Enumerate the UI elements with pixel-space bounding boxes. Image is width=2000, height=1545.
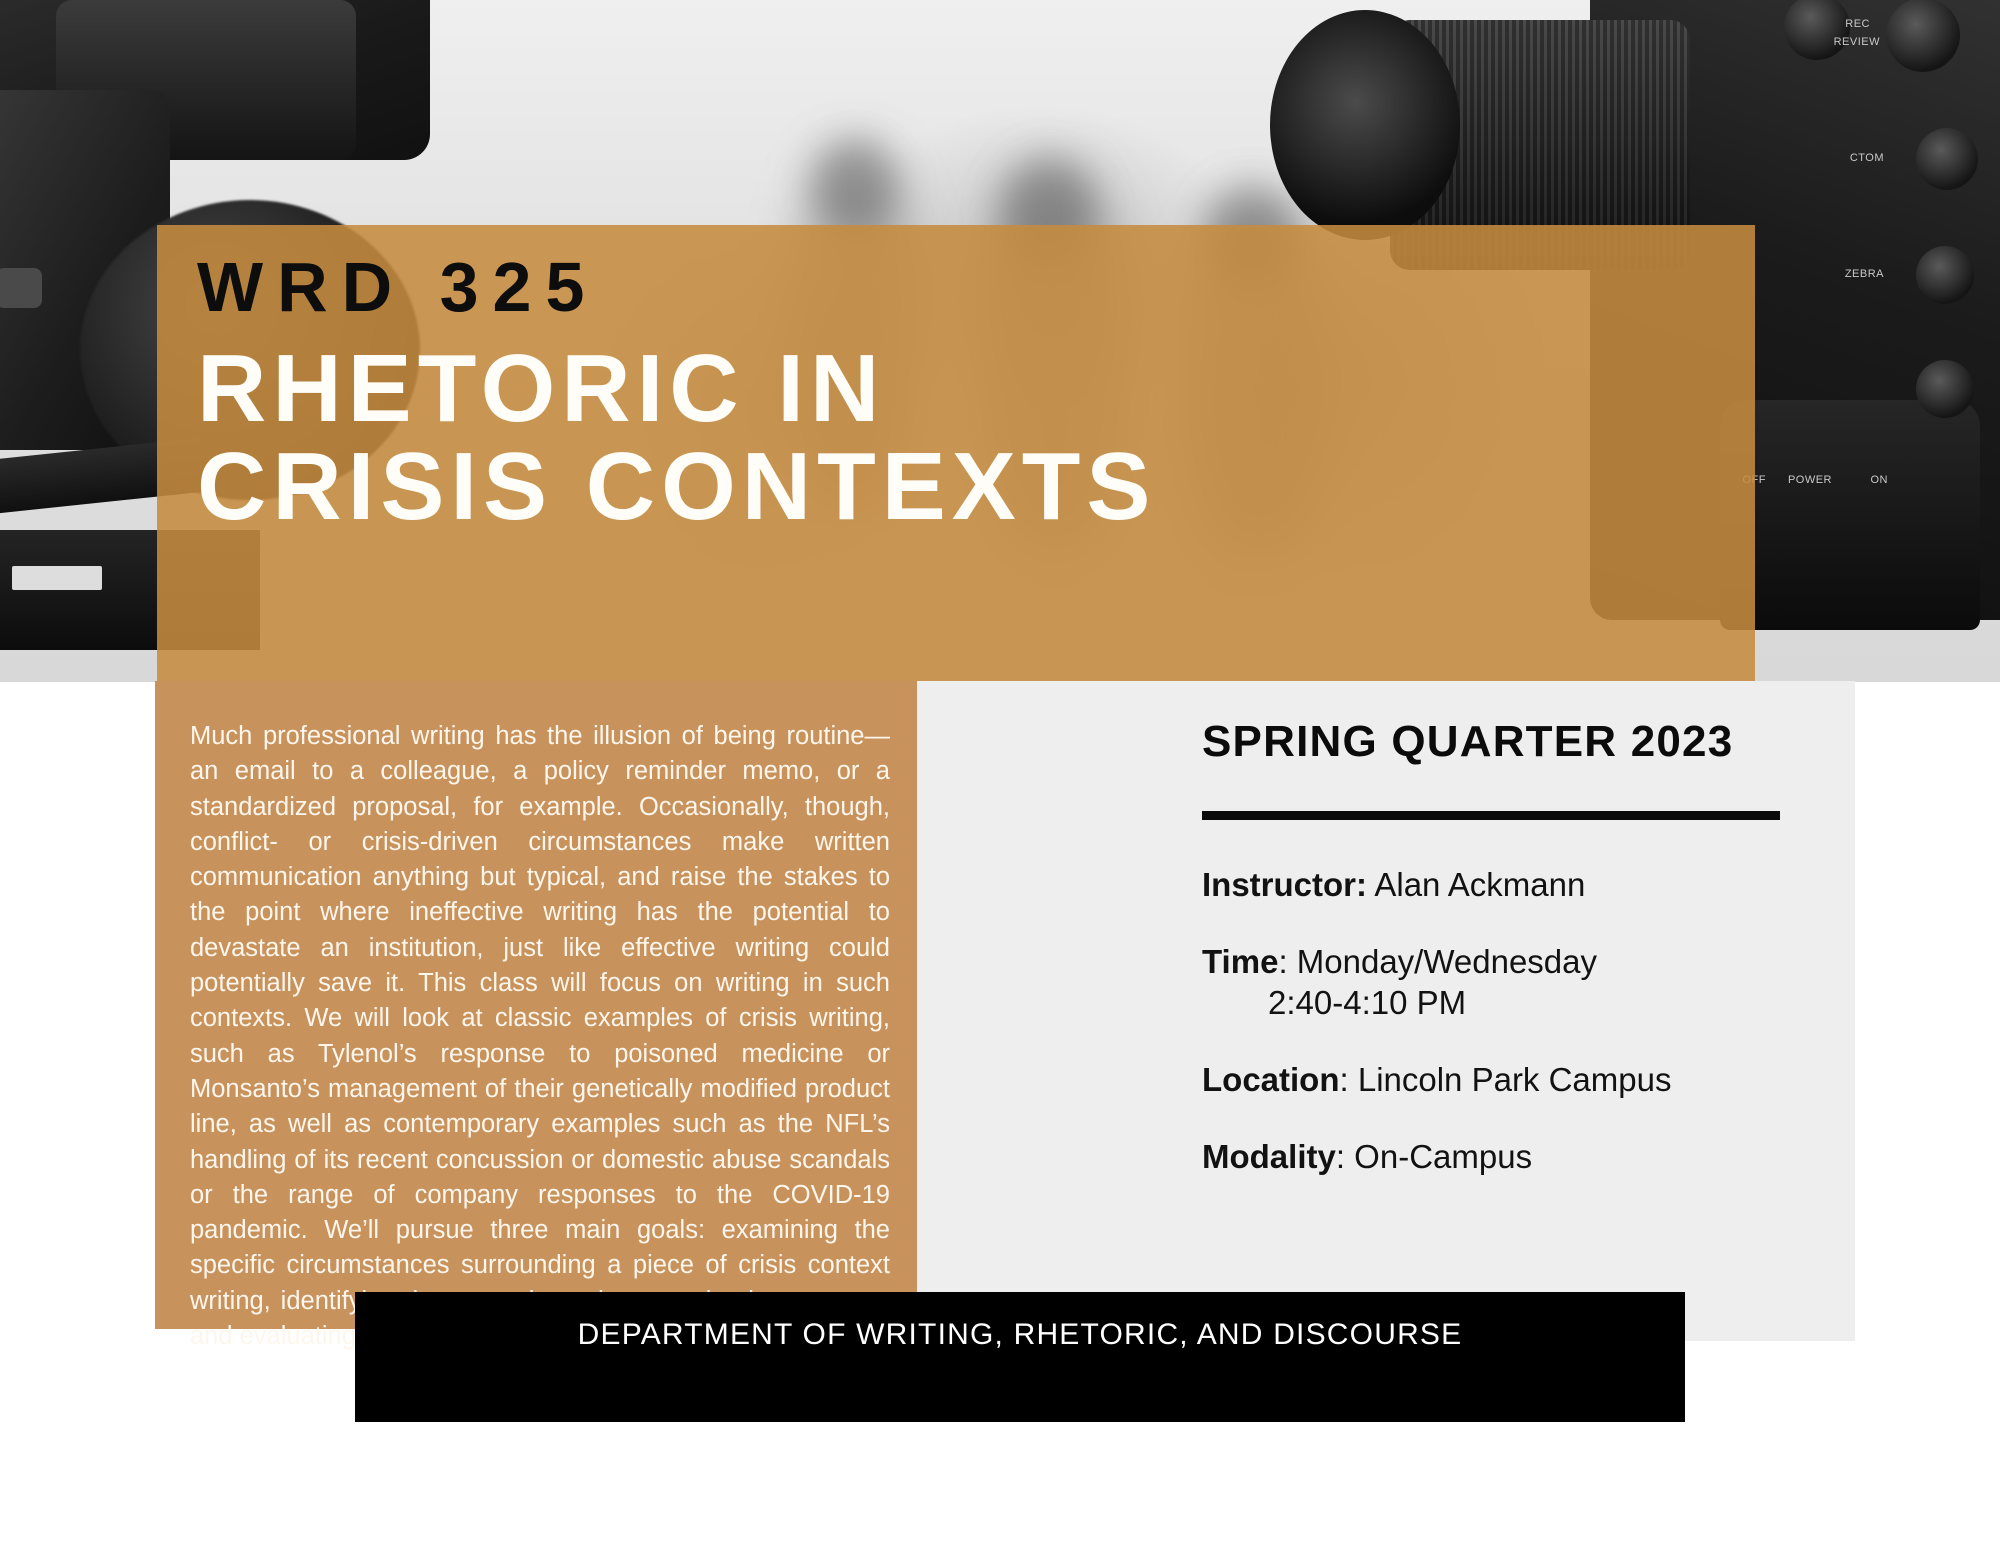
department-name: DEPARTMENT OF WRITING, RHETORIC, AND DIS… — [578, 1318, 1463, 1352]
detail-row-time: Time: Monday/Wednesday 2:40-4:10 PM — [1202, 941, 1802, 1023]
camera-label-zebra: ZEBRA — [1845, 268, 1884, 280]
course-details-list: Instructor: Alan Ackmann Time: Monday/We… — [1202, 864, 1802, 1177]
detail-row-modality: Modality: On-Campus — [1202, 1136, 1802, 1177]
detail-label-modality: Modality — [1202, 1138, 1336, 1175]
department-footer-bar: DEPARTMENT OF WRITING, RHETORIC, AND DIS… — [355, 1292, 1685, 1422]
detail-value-time-hours: 2:40-4:10 PM — [1202, 982, 1802, 1023]
camera-label-review: REVIEW — [1834, 36, 1880, 48]
course-info-panel: SPRING QUARTER 2023 Instructor: Alan Ack… — [917, 681, 1855, 1341]
page-title: RHETORIC IN CRISIS CONTEXTS — [197, 340, 1156, 536]
course-description-text: Much professional writing has the illusi… — [190, 719, 890, 1354]
detail-label-location: Location — [1202, 1061, 1340, 1098]
detail-row-instructor: Instructor: Alan Ackmann — [1202, 864, 1802, 905]
detail-label-instructor: Instructor: — [1202, 866, 1367, 903]
detail-row-location: Location: Lincoln Park Campus — [1202, 1059, 1802, 1100]
camera-knob-icon — [0, 268, 42, 308]
detail-value-modality: : On-Campus — [1336, 1138, 1532, 1175]
camera-label-rec: REC — [1845, 18, 1870, 30]
camera-dial-icon — [1886, 0, 1960, 72]
camera-label-custom: CTOM — [1850, 152, 1884, 164]
detail-value-instructor: Alan Ackmann — [1367, 866, 1585, 903]
camera-dial-icon — [1916, 360, 1974, 418]
course-code: WRD 325 — [197, 247, 598, 327]
detail-value-time: : Monday/Wednesday — [1278, 943, 1597, 980]
camera-lens-front-icon — [1270, 10, 1460, 240]
camera-label-power: POWER — [1788, 474, 1832, 486]
camera-grip — [1720, 400, 1980, 630]
camera-dial-icon — [1916, 128, 1978, 190]
course-title-line-1: RHETORIC IN — [197, 335, 885, 442]
title-band: WRD 325 RHETORIC IN CRISIS CONTEXTS — [157, 225, 1755, 681]
course-title-line-2: CRISIS CONTEXTS — [197, 438, 1156, 536]
camera-dial-icon — [1916, 246, 1974, 304]
course-description-panel: Much professional writing has the illusi… — [155, 681, 917, 1329]
audience-silhouette-head — [812, 140, 898, 236]
detail-label-time: Time — [1202, 943, 1278, 980]
camera-label-on: ON — [1871, 474, 1889, 486]
detail-value-location: : Lincoln Park Campus — [1340, 1061, 1672, 1098]
term-heading: SPRING QUARTER 2023 — [1202, 717, 1802, 767]
divider-rule — [1202, 811, 1780, 820]
camera-label-tag — [12, 566, 102, 590]
